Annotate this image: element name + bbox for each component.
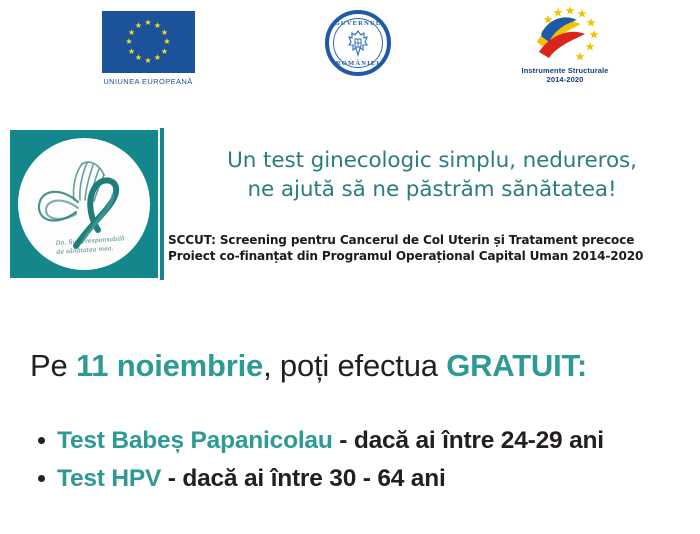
offer-middle-text: , poți efectua (263, 348, 446, 383)
seal-text-top: GUVERNUL (329, 20, 387, 27)
eu-logo: ★★★★★★★★★★★★ UNIUNEA EUROPEANĂ (93, 11, 203, 86)
banner-subline-line2: Proiect co-finanțat din Programul Operaț… (168, 248, 698, 264)
banner-subline: SCCUT: Screening pentru Cancerul de Col … (168, 232, 698, 264)
eu-star-icon: ★ (125, 38, 133, 46)
offer-lead-text: Pe (30, 348, 76, 383)
eu-star-icon: ★ (135, 54, 143, 62)
banner-headline-line1: Un test ginecologic simplu, nedureros, (168, 146, 696, 175)
offer-date: 11 noiembrie (76, 348, 263, 383)
brand-logo-circle: Da. Sunt responsabilă de sănătatea mea. (18, 138, 150, 270)
test-condition: - dacă ai între 24-29 ani (333, 427, 604, 454)
structural-instruments-icon (523, 4, 607, 64)
structural-caption-line2: 2014-2020 (505, 75, 625, 84)
test-name: Test HPV (57, 465, 161, 492)
seal-text-bottom: ROMÂNIEI (329, 60, 387, 67)
banner-headline: Un test ginecologic simplu, nedureros, n… (168, 146, 696, 204)
bullet-dot-icon (38, 437, 45, 444)
campaign-banner: Da. Sunt responsabilă de sănătatea mea. … (0, 128, 700, 280)
eu-star-icon: ★ (163, 38, 171, 46)
eu-logo-caption: UNIUNEA EUROPEANĂ (93, 77, 203, 86)
banner-headline-line2: ne ajută să ne păstrăm sănătatea! (168, 175, 696, 204)
eu-flag-icon: ★★★★★★★★★★★★ (102, 11, 195, 73)
government-seal-icon: GUVERNUL ROMÂNIEI (325, 10, 391, 76)
structural-instruments-logo: Instrumente Structurale 2014-2020 (505, 4, 625, 84)
list-item: Test HPV - dacă ai între 30 - 64 ani (30, 460, 680, 498)
banner-subline-line1: SCCUT: Screening pentru Cancerul de Col … (168, 232, 698, 248)
list-item: Test Babeș Papanicolau - dacă ai între 2… (30, 422, 680, 460)
funding-logo-bar: ★★★★★★★★★★★★ UNIUNEA EUROPEANĂ GUVERNUL … (0, 0, 700, 100)
test-name: Test Babeș Papanicolau (57, 427, 333, 454)
eu-star-icon: ★ (160, 48, 168, 56)
eagle-crest-icon (345, 29, 371, 57)
government-logo: GUVERNUL ROMÂNIEI (325, 10, 395, 80)
teal-divider-rule (160, 128, 164, 280)
eu-star-icon: ★ (144, 19, 152, 27)
offer-free-label: GRATUIT: (446, 348, 587, 383)
eu-star-icon: ★ (128, 48, 136, 56)
structural-caption-line1: Instrumente Structurale (505, 66, 625, 75)
eu-star-icon: ★ (128, 29, 136, 37)
brand-logo-block: Da. Sunt responsabilă de sănătatea mea. (10, 130, 158, 278)
test-list: Test Babeș Papanicolau - dacă ai între 2… (30, 422, 680, 498)
eu-star-icon: ★ (144, 57, 152, 65)
bullet-dot-icon (38, 475, 45, 482)
eu-star-icon: ★ (154, 54, 162, 62)
eu-star-icon: ★ (160, 29, 168, 37)
test-condition: - dacă ai între 30 - 64 ani (161, 465, 445, 492)
eu-star-icon: ★ (135, 22, 143, 30)
main-offer-line: Pe 11 noiembrie, poți efectua GRATUIT: (30, 347, 587, 385)
